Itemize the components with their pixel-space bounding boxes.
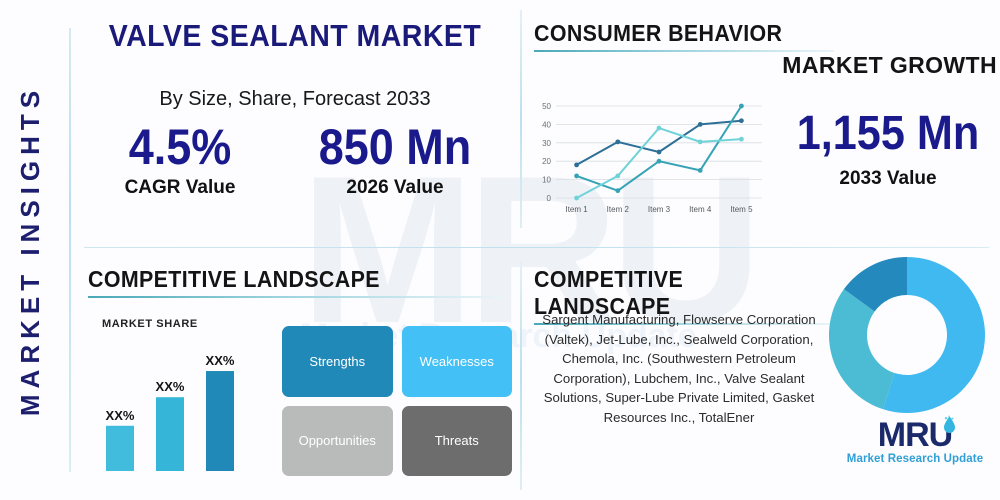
swot-opportunities[interactable]: Opportunities (282, 406, 393, 477)
svg-text:Item 4: Item 4 (689, 205, 712, 214)
competitive-landscape-heading-left: COMPETITIVE LANDSCAPE (88, 266, 471, 293)
stat-2026-value: 850 Mn 2026 Value (295, 122, 495, 199)
svg-text:Item 3: Item 3 (648, 205, 671, 214)
side-vertical-label: MARKET INSIGHTS (0, 0, 62, 500)
stat-cagr-value: 4.5% (90, 122, 270, 173)
market-growth-heading: MARKET GROWTH (772, 52, 997, 79)
horizontal-divider (84, 247, 989, 248)
logo-mru-text: MRU (878, 418, 952, 452)
consumer-behavior-heading: CONSUMER BEHAVIOR (534, 20, 813, 47)
swot-grid: Strengths Weaknesses Opportunities Threa… (282, 326, 512, 476)
market-share-bar-chart: XX%XX%XX% (90, 328, 290, 473)
stat-cagr: 4.5% CAGR Value (80, 122, 280, 199)
bar-chart-svg: XX%XX%XX% (90, 328, 290, 473)
line-chart-svg: 01020304050Item 1Item 2Item 3Item 4Item … (530, 98, 770, 220)
svg-text:XX%: XX% (106, 408, 135, 423)
page-subtitle: By Size, Share, Forecast 2033 (70, 88, 520, 111)
competitive-landscape-rule-left (88, 296, 500, 298)
swot-weaknesses[interactable]: Weaknesses (402, 326, 513, 397)
svg-text:10: 10 (542, 176, 551, 185)
consumer-behavior-line-chart: 01020304050Item 1Item 2Item 3Item 4Item … (530, 98, 770, 220)
stat-2026-value-number: 850 Mn (305, 122, 485, 173)
panel-market-overview: VALVE SEALANT MARKET By Size, Share, For… (70, 0, 520, 247)
svg-text:Item 2: Item 2 (607, 205, 630, 214)
page-title: VALVE SEALANT MARKET (88, 18, 502, 54)
donut-chart-svg (822, 250, 992, 420)
market-growth-caption: 2033 Value (777, 168, 999, 190)
svg-text:30: 30 (542, 139, 551, 148)
market-split-donut-chart (822, 250, 992, 420)
svg-text:Item 5: Item 5 (730, 205, 753, 214)
water-drop-icon (943, 415, 956, 435)
panel-competitive-landscape-left: COMPETITIVE LANDSCAPE MARKET SHARE XX%XX… (70, 250, 520, 500)
company-list: Sargent Manufacturing, Flowserve Corpora… (528, 310, 830, 427)
stat-2026-value-caption: 2026 Value (295, 177, 495, 199)
svg-text:Item 1: Item 1 (565, 205, 588, 214)
swot-strengths[interactable]: Strengths (282, 326, 393, 397)
panel-competitive-landscape-right: COMPETITIVE LANDSCAPE Sargent Manufactur… (522, 250, 1000, 500)
logo-tagline: Market Research Update (840, 453, 990, 465)
svg-text:0: 0 (547, 194, 552, 203)
swot-threats[interactable]: Threats (402, 406, 513, 477)
logo-mru-label: MRU (878, 416, 952, 454)
infographic-canvas: MRUMarket Research Update MARKET INSIGHT… (0, 0, 1000, 500)
market-growth-value: 1,155 Mn (788, 110, 988, 158)
svg-text:XX%: XX% (156, 379, 185, 394)
svg-text:XX%: XX% (206, 353, 235, 368)
brand-logo: MRU Market Research Update (840, 418, 990, 465)
side-vertical-label-text: MARKET INSIGHTS (16, 84, 47, 415)
svg-text:50: 50 (542, 102, 551, 111)
panel-consumer-behavior: CONSUMER BEHAVIOR MARKET GROWTH 1,155 Mn… (522, 0, 1000, 247)
svg-text:20: 20 (542, 157, 551, 166)
svg-text:40: 40 (542, 120, 551, 129)
stat-cagr-caption: CAGR Value (80, 177, 280, 199)
